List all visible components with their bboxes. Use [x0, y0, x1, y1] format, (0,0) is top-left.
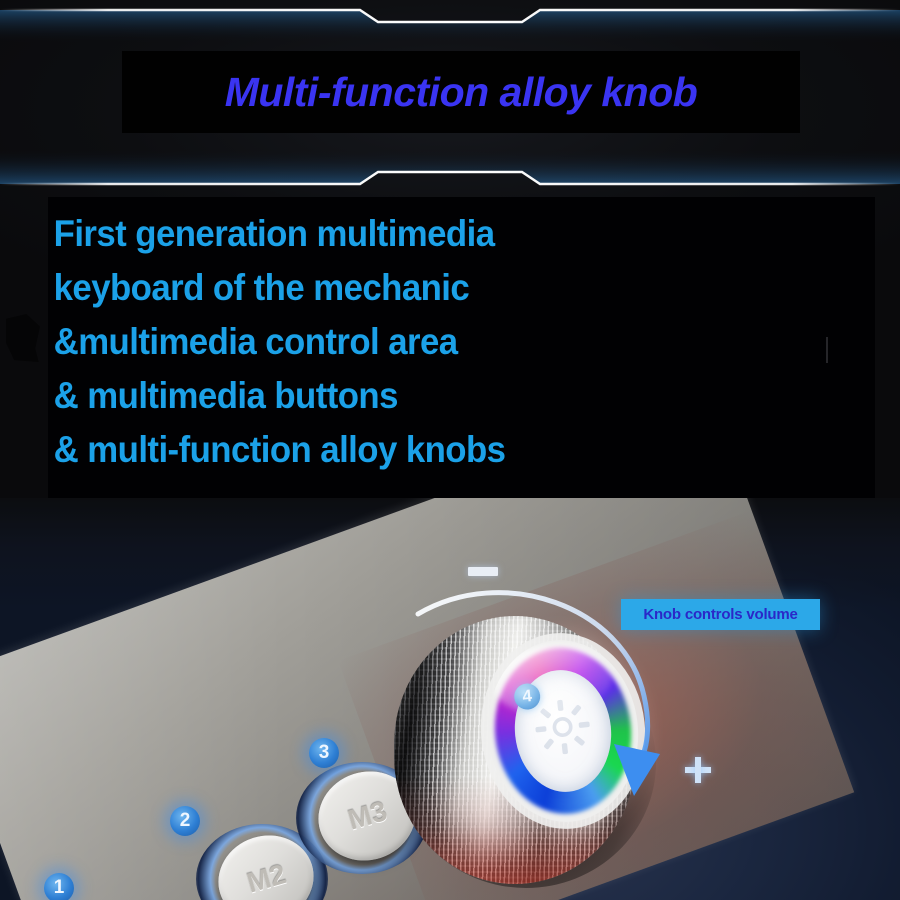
product-marketing-image: Multi-function alloy knob First generati… [0, 0, 900, 900]
edge-smudge-artifact [6, 314, 40, 362]
feature-line: & multimedia buttons [48, 369, 825, 423]
page-title: Multi-function alloy knob [122, 51, 800, 133]
badge-3: 3 [309, 738, 339, 768]
volume-decrease-icon [468, 567, 498, 576]
feature-line: First generation multimedia [48, 207, 825, 261]
volume-increase-icon [685, 757, 711, 783]
m2-button-label: M2 [243, 858, 289, 899]
knob-callout-text: Knob controls volume [643, 606, 797, 623]
title-band: Multi-function alloy knob [122, 51, 800, 133]
edge-tick-artifact [826, 337, 828, 363]
decorative-line-middle [0, 150, 900, 192]
decorative-line-top [0, 2, 900, 42]
plus-vertical-bar [695, 757, 701, 783]
badge-1: 1 [44, 873, 74, 900]
feature-line: & multi-function alloy knobs [48, 423, 825, 477]
feature-text-panel: First generation multimedia keyboard of … [48, 197, 875, 498]
feature-line: keyboard of the mechanic [48, 261, 825, 315]
feature-line: &multimedia control area [48, 315, 825, 369]
rotation-arrow-icon [338, 548, 738, 878]
title-section: Multi-function alloy knob First generati… [0, 0, 900, 500]
feature-text-lines: First generation multimedia keyboard of … [48, 207, 875, 477]
badge-2: 2 [170, 806, 200, 836]
knob-callout-label: Knob controls volume [621, 599, 820, 630]
